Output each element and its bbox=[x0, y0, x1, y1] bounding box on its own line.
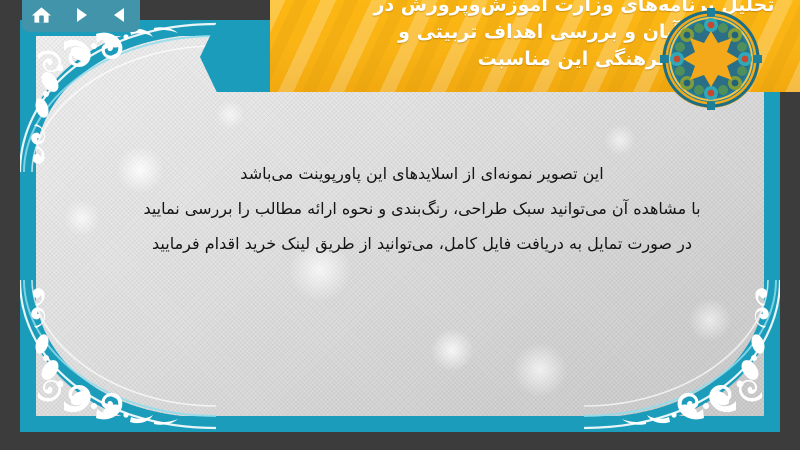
home-button[interactable] bbox=[27, 2, 57, 28]
body-line-3: در صورت تمایل به دریافت فایل کامل، می‌تو… bbox=[60, 226, 780, 261]
home-icon bbox=[31, 5, 52, 25]
slide-body-text: این تصویر نمونه‌ای از اسلایدهای این پاور… bbox=[60, 156, 780, 261]
next-icon bbox=[71, 5, 91, 25]
body-line-1: این تصویر نمونه‌ای از اسلایدهای این پاور… bbox=[60, 156, 780, 191]
previous-icon bbox=[110, 5, 130, 25]
next-slide-button[interactable] bbox=[66, 2, 96, 28]
slide-viewer: این تصویر نمونه‌ای از اسلایدهای این پاور… bbox=[0, 0, 800, 450]
body-line-2: با مشاهده آن می‌توانید سبک طراحی، رنگ‌بن… bbox=[60, 191, 780, 226]
navigation-toolbar bbox=[22, 0, 140, 32]
persian-mandala-medallion bbox=[660, 8, 762, 110]
previous-slide-button[interactable] bbox=[105, 2, 135, 28]
